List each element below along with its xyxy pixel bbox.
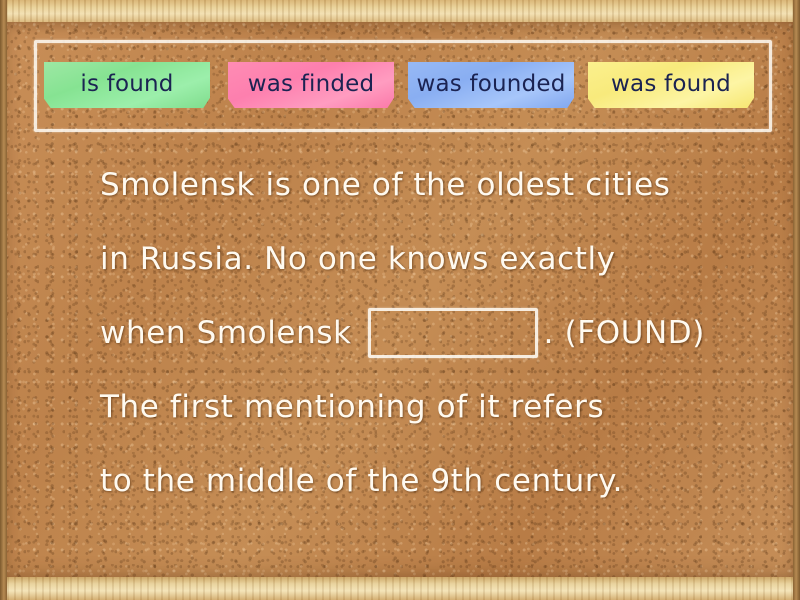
passage-line-4: The first mentioning of it refers — [0, 370, 800, 444]
passage-text: Smolensk is one of the oldest cities in … — [0, 148, 800, 518]
answer-drop-slot[interactable] — [368, 308, 538, 358]
wood-frame-top — [0, 0, 800, 22]
option-card-label: was finded — [248, 71, 375, 97]
wood-frame-left — [0, 0, 7, 600]
passage-line-4-text: The first mentioning of it refers — [100, 389, 604, 425]
option-card-is-found[interactable]: is found — [44, 62, 210, 108]
wood-frame-right — [793, 0, 800, 600]
option-card-label: is found — [80, 71, 173, 97]
option-card-was-founded[interactable]: was founded — [408, 62, 574, 108]
option-card-label: was founded — [416, 71, 565, 97]
wood-frame-bottom — [0, 577, 800, 600]
passage-line-1-text: Smolensk is one of the oldest cities — [100, 167, 671, 203]
passage-line-3: when Smolensk . (FOUND) — [0, 296, 800, 370]
cork-board-exercise: is found was finded was founded was foun… — [0, 0, 800, 600]
passage-line-5: to the middle of the 9th century. — [0, 444, 800, 518]
passage-line-1: Smolensk is one of the oldest cities — [0, 148, 800, 222]
passage-line-3-after: . (FOUND) — [544, 315, 705, 351]
passage-line-2-text: in Russia. No one knows exactly — [100, 241, 616, 277]
option-card-was-found[interactable]: was found — [588, 62, 754, 108]
option-card-was-finded[interactable]: was finded — [228, 62, 394, 108]
passage-line-5-text: to the middle of the 9th century. — [100, 463, 623, 499]
passage-line-2: in Russia. No one knows exactly — [0, 222, 800, 296]
option-card-label: was found — [611, 71, 731, 97]
passage-line-3-before: when Smolensk — [100, 315, 352, 351]
